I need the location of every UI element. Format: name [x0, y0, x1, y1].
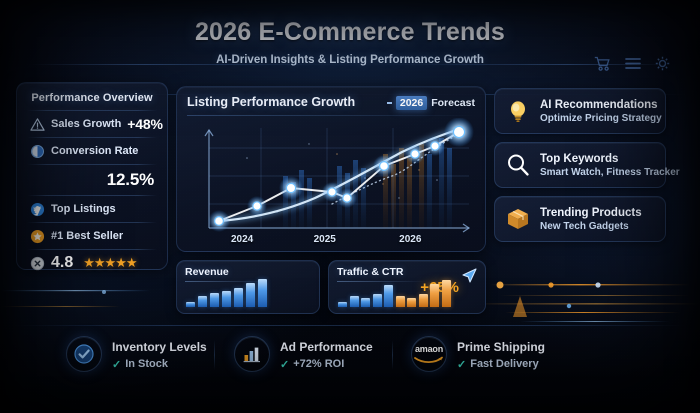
- dashboard-canvas: 2026 E-Commerce Trends AI-Driven Insight…: [0, 0, 700, 413]
- card-trending-products[interactable]: Trending Products New Tech Gadgets: [494, 196, 666, 242]
- bottom-item-ad-performance[interactable]: Ad Performance ✓ +72% ROI: [234, 336, 373, 372]
- chart-plot-area[interactable]: 2024 2025 2026: [187, 118, 477, 246]
- chart-header: Listing Performance Growth 2026 Forecast: [187, 95, 475, 110]
- bird-badge-icon: [30, 202, 45, 217]
- bar: [419, 294, 428, 307]
- mini-card-revenue[interactable]: Revenue: [176, 260, 320, 314]
- header: 2026 E-Commerce Trends AI-Driven Insight…: [0, 18, 700, 80]
- bottom-text: Ad Performance ✓ +72% ROI: [280, 338, 373, 371]
- check-mark-icon: ✓: [280, 358, 289, 371]
- forecast-word: Forecast: [431, 97, 475, 109]
- card-subtitle: Smart Watch, Fitness Tracker: [540, 167, 655, 178]
- chart-svg: [187, 118, 477, 246]
- forecast-year: 2026: [396, 96, 427, 110]
- page-title: 2026 E-Commerce Trends: [0, 18, 700, 47]
- mini-card-traffic-ctr[interactable]: Traffic & CTR +65%: [328, 260, 486, 314]
- traffic-bars: [338, 277, 477, 307]
- lightbulb-icon: [505, 98, 531, 124]
- perf-value: 12.5%: [107, 170, 154, 190]
- perf-label: Top Listings: [51, 203, 116, 215]
- card-text: AI Recommendations Optimize Pricing Stra…: [540, 99, 655, 124]
- chart-divider: [187, 115, 475, 116]
- bar: [234, 288, 243, 307]
- x-circle-icon: [30, 256, 45, 271]
- amazon-logo-icon: amaon: [411, 336, 447, 372]
- x-tick-2024: 2024: [231, 234, 253, 245]
- header-icon-group: [594, 56, 670, 71]
- chart-title: Listing Performance Growth: [187, 95, 355, 109]
- bar: [384, 285, 393, 307]
- x-tick-2025: 2025: [314, 234, 336, 245]
- bar: [350, 296, 359, 307]
- bottom-separator: [392, 340, 393, 370]
- bar: [258, 279, 267, 307]
- magnifier-icon: [505, 152, 531, 178]
- bottom-item-inventory[interactable]: Inventory Levels ✓ In Stock: [66, 336, 207, 372]
- performance-overview-panel: Performance Overview Sales Growth +48% C…: [16, 82, 168, 270]
- card-ai-recommendations[interactable]: AI Recommendations Optimize Pricing Stra…: [494, 88, 666, 134]
- amazon-wordmark: amaon: [412, 344, 446, 354]
- bar: [222, 291, 231, 307]
- gear-icon[interactable]: [655, 56, 670, 71]
- legend-dash-icon: [387, 102, 392, 104]
- warning-triangle-icon: [30, 117, 45, 132]
- chart-x-axis-labels: 2024 2025 2026: [187, 234, 477, 248]
- card-title: Trending Products: [540, 207, 642, 219]
- bar: [246, 283, 255, 307]
- check-mark-icon: ✓: [112, 358, 121, 371]
- bar: [396, 296, 405, 307]
- bar: [198, 296, 207, 307]
- perf-row-top-listings[interactable]: Top Listings: [27, 196, 157, 222]
- rating-value: 4.8: [51, 254, 73, 272]
- perf-row-sales-growth[interactable]: Sales Growth +48%: [27, 111, 157, 137]
- perf-row-rating[interactable]: 4.8 ★★★★★: [27, 250, 157, 276]
- check-mark-icon: ✓: [457, 358, 466, 371]
- perf-value: +48%: [127, 116, 162, 132]
- bar: [361, 298, 370, 307]
- card-text: Top Keywords Smart Watch, Fitness Tracke…: [540, 153, 655, 178]
- package-box-icon: [505, 206, 531, 232]
- x-tick-2026: 2026: [399, 234, 421, 245]
- bottom-status-text: Fast Delivery: [470, 358, 538, 370]
- bottom-status: ✓ Fast Delivery: [457, 358, 545, 371]
- card-text: Trending Products New Tech Gadgets: [540, 207, 642, 232]
- panel-title: Performance Overview: [27, 92, 157, 104]
- bottom-title: Prime Shipping: [457, 340, 545, 354]
- bottom-title: Ad Performance: [280, 340, 373, 354]
- check-circle-icon: [66, 336, 102, 372]
- perf-label: Sales Growth: [51, 118, 121, 130]
- conversion-circle-icon: [30, 144, 45, 159]
- bar: [407, 298, 416, 307]
- rating-stars: ★★★★★: [83, 255, 136, 271]
- card-subtitle: New Tech Gadgets: [540, 221, 642, 232]
- perf-label: #1 Best Seller: [51, 230, 123, 242]
- perf-row-best-seller[interactable]: #1 Best Seller: [27, 223, 157, 249]
- bar: [430, 284, 439, 307]
- listing-performance-chart-panel: Listing Performance Growth 2026 Forecast: [176, 86, 486, 252]
- cart-icon[interactable]: [594, 56, 611, 71]
- perf-row-conversion-rate[interactable]: Conversion Rate: [27, 138, 157, 164]
- bottom-title: Inventory Levels: [112, 340, 207, 354]
- perf-label: Conversion Rate: [51, 145, 138, 157]
- perf-row-conversion-value: 12.5%: [27, 165, 157, 195]
- header-divider: [30, 64, 670, 65]
- card-title: Top Keywords: [540, 153, 655, 165]
- bar: [210, 293, 219, 307]
- bar: [373, 294, 382, 307]
- star-badge-icon: [30, 229, 45, 244]
- bottom-status-text: +72% ROI: [293, 358, 344, 370]
- bar: [186, 302, 195, 307]
- bottom-divider: [14, 325, 686, 326]
- card-top-keywords[interactable]: Top Keywords Smart Watch, Fitness Tracke…: [494, 142, 666, 188]
- revenue-bars: [186, 277, 311, 307]
- bottom-item-prime-shipping[interactable]: amaon Prime Shipping ✓ Fast Delivery: [411, 336, 545, 372]
- bar: [338, 302, 347, 307]
- card-title: AI Recommendations: [540, 99, 655, 111]
- bottom-status: ✓ In Stock: [112, 358, 207, 371]
- menu-icon[interactable]: [625, 57, 641, 70]
- bottom-text: Inventory Levels ✓ In Stock: [112, 338, 207, 371]
- bar-chart-icon: [234, 336, 270, 372]
- bottom-separator: [214, 340, 215, 370]
- bottom-status: ✓ +72% ROI: [280, 358, 373, 371]
- card-subtitle: Optimize Pricing Strategy: [540, 113, 655, 124]
- forecast-legend[interactable]: 2026 Forecast: [387, 96, 475, 110]
- bottom-status-text: In Stock: [125, 358, 168, 370]
- bar: [442, 280, 451, 307]
- bottom-text: Prime Shipping ✓ Fast Delivery: [457, 338, 545, 371]
